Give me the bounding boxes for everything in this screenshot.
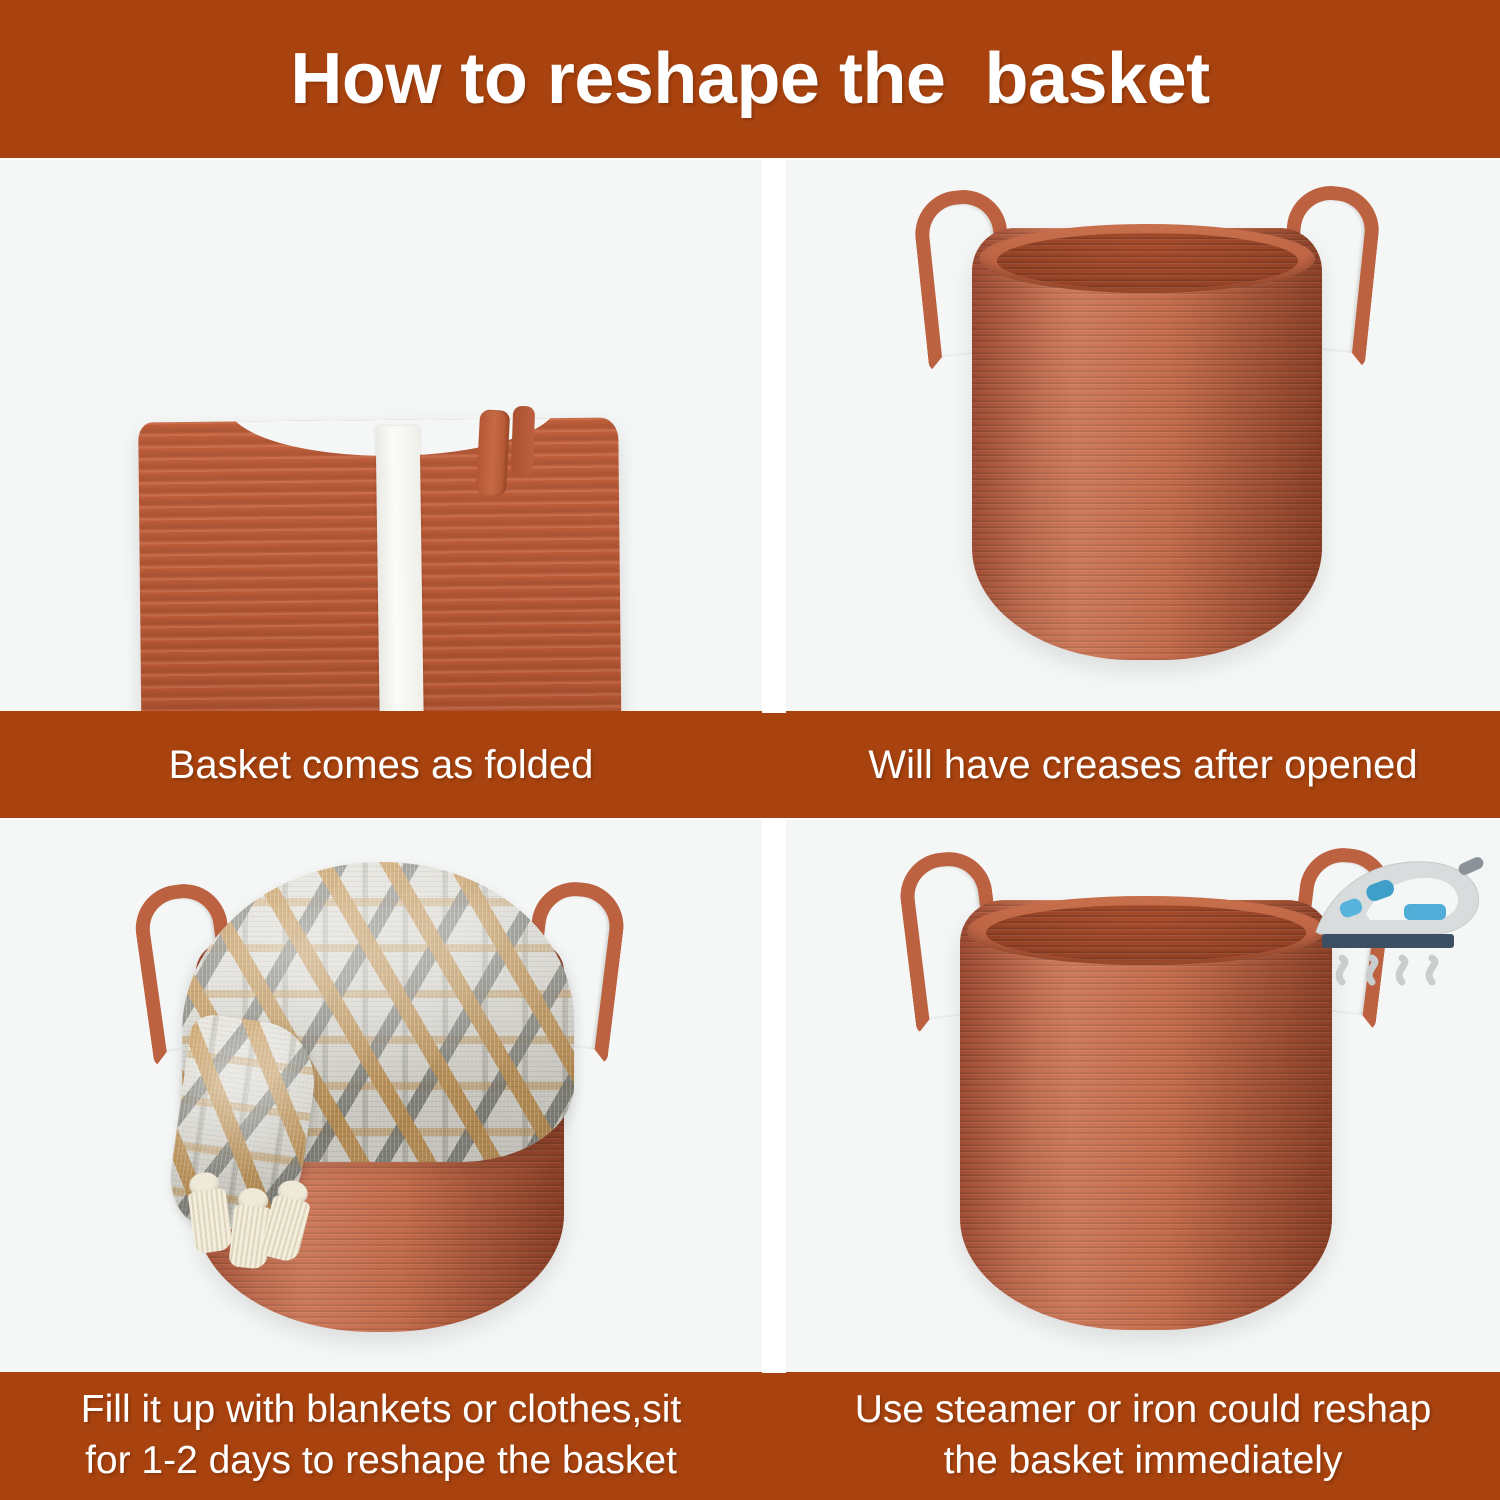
step-3-caption-line1: Fill it up with blankets or clothes,sit (81, 1390, 681, 1431)
step-4-caption: Use steamer or iron could reshap the bas… (786, 1372, 1500, 1500)
panel-divider-top (762, 160, 786, 711)
steamed-basket-photo (960, 900, 1332, 1330)
step-1-caption: Basket comes as folded (0, 711, 762, 818)
page-title: How to reshape the basket (290, 38, 1209, 120)
steam-iron-icon (1308, 840, 1488, 990)
step-1-image-panel (0, 160, 762, 711)
basket-interior (986, 905, 1306, 961)
basket-body (972, 228, 1322, 660)
step-1-caption-text: Basket comes as folded (169, 744, 594, 786)
basket-shading (960, 900, 1332, 1330)
panel-divider-gap-bottom (762, 1360, 786, 1373)
page-header: How to reshape the basket (0, 0, 1500, 158)
basket-interior (997, 233, 1298, 289)
basket-body (960, 900, 1332, 1330)
panel-divider-bottom (762, 820, 786, 1372)
step-3-caption-line2: for 1-2 days to reshape the basket (85, 1441, 677, 1482)
step-2-caption: Will have creases after opened (786, 711, 1500, 818)
step-4-caption-line1: Use steamer or iron could reshap (855, 1390, 1432, 1431)
folded-basket-photo (120, 390, 640, 711)
folded-basket-handle-b (511, 406, 535, 477)
step-3-caption: Fill it up with blankets or clothes,sit … (0, 1372, 762, 1500)
basket-shading (972, 228, 1322, 660)
interior-rope-texture (997, 233, 1298, 289)
tassel-fringe (259, 1194, 311, 1263)
interior-rope-texture (986, 905, 1306, 961)
infographic-page: How to reshape the basket (0, 0, 1500, 1500)
step-4-caption-line2: the basket immediately (944, 1441, 1343, 1482)
panel-divider-gap-mid (762, 700, 786, 713)
folded-basket-handle-a (476, 409, 510, 496)
step-2-caption-text: Will have creases after opened (868, 744, 1417, 786)
creased-basket-photo (972, 228, 1322, 660)
white-packing-strap (376, 426, 425, 711)
